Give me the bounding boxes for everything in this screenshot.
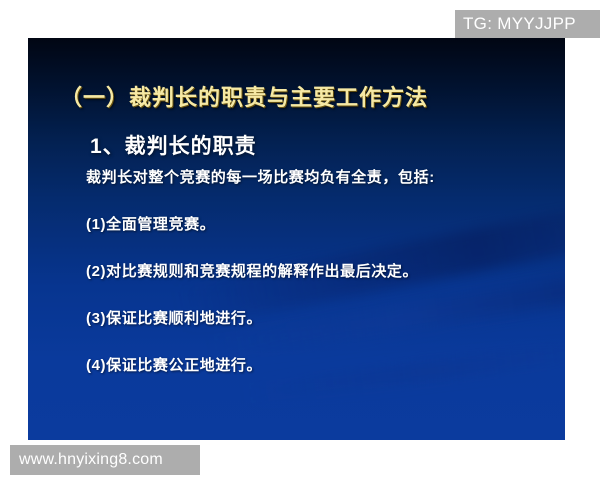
slide-title: （一）裁判长的职责与主要工作方法 — [60, 80, 428, 112]
slide-body: 裁判长对整个竞赛的每一场比赛均负有全责，包括: (1)全面管理竞赛。 (2)对比… — [86, 166, 536, 375]
body-intro-line: 裁判长对整个竞赛的每一场比赛均负有全责，包括: — [86, 166, 536, 187]
watermark-top-right: TG: MYYJJPP — [455, 10, 600, 38]
watermark-bottom-left: www.hnyixing8.com — [10, 445, 200, 475]
body-item-1: (1)全面管理竞赛。 — [86, 213, 536, 234]
presentation-slide: （一）裁判长的职责与主要工作方法 1、裁判长的职责 裁判长对整个竞赛的每一场比赛… — [28, 38, 565, 440]
body-item-4: (4)保证比赛公正地进行。 — [86, 354, 536, 375]
slide-subtitle: 1、裁判长的职责 — [90, 130, 257, 160]
body-item-2: (2)对比赛规则和竞赛规程的解释作出最后决定。 — [86, 260, 536, 281]
body-item-3: (3)保证比赛顺利地进行。 — [86, 307, 536, 328]
screenshot-canvas: （一）裁判长的职责与主要工作方法 1、裁判长的职责 裁判长对整个竞赛的每一场比赛… — [0, 0, 600, 480]
